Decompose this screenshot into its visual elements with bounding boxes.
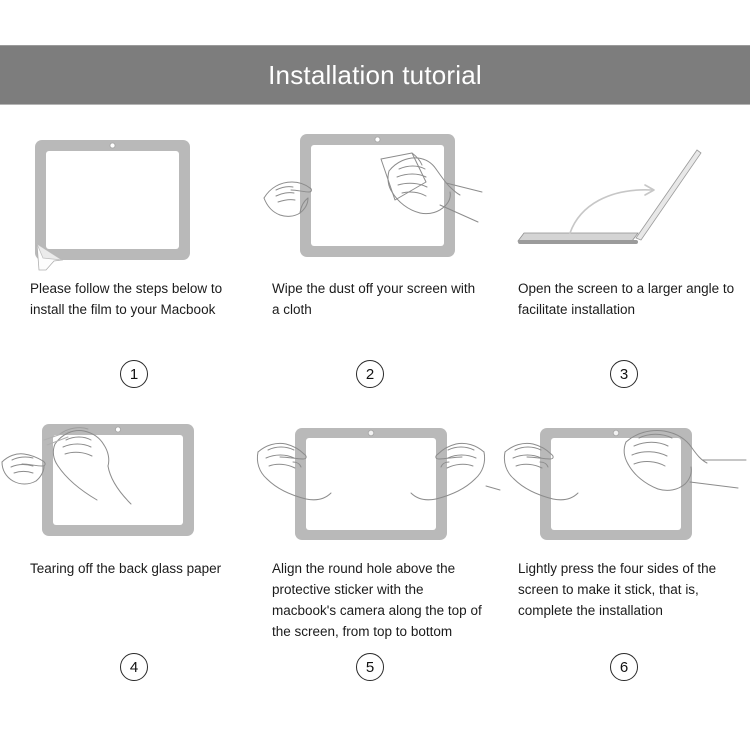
step-caption-5: Align the round hole above the protectiv…	[250, 558, 500, 642]
illustration-6	[500, 400, 750, 550]
step-badge-2: 2	[356, 360, 384, 388]
illustration-3	[500, 120, 750, 270]
step-card-3: Open the screen to a larger angle to fac…	[500, 120, 750, 400]
hand-wiping-screen-cloth-icon	[250, 120, 500, 270]
step-caption-6: Lightly press the four sides of the scre…	[500, 558, 750, 621]
header-banner: Installation tutorial	[0, 45, 750, 105]
step-card-2: Wipe the dust off your screen with a clo…	[250, 120, 500, 400]
illustration-1	[0, 120, 250, 270]
step-badge-3: 3	[610, 360, 638, 388]
step-badge-4: 4	[120, 653, 148, 681]
step-badge-6: 6	[610, 653, 638, 681]
macbook-screen-peeling-film-icon	[0, 120, 250, 270]
page-title: Installation tutorial	[268, 62, 482, 88]
step-card-4: Tearing off the back glass paper 4	[0, 400, 250, 680]
step-card-6: Lightly press the four sides of the scre…	[500, 400, 750, 680]
step-badge-1: 1	[120, 360, 148, 388]
step-caption-2: Wipe the dust off your screen with a clo…	[250, 278, 500, 320]
step-caption-3: Open the screen to a larger angle to fac…	[500, 278, 750, 320]
tearing-back-paper-icon	[0, 400, 250, 550]
illustration-2	[250, 120, 500, 270]
palm-pressing-screen-icon	[500, 400, 750, 550]
step-badge-5: 5	[356, 653, 384, 681]
laptop-open-angle-icon	[500, 120, 750, 270]
illustration-4	[0, 400, 250, 550]
step-caption-1: Please follow the steps below to install…	[0, 278, 250, 320]
step-card-5: Align the round hole above the protectiv…	[250, 400, 500, 680]
illustration-5	[250, 400, 500, 550]
step-card-1: Please follow the steps below to install…	[0, 120, 250, 400]
steps-grid: Please follow the steps below to install…	[0, 120, 750, 680]
step-caption-4: Tearing off the back glass paper	[0, 558, 250, 579]
aligning-film-two-hands-icon	[250, 400, 500, 550]
